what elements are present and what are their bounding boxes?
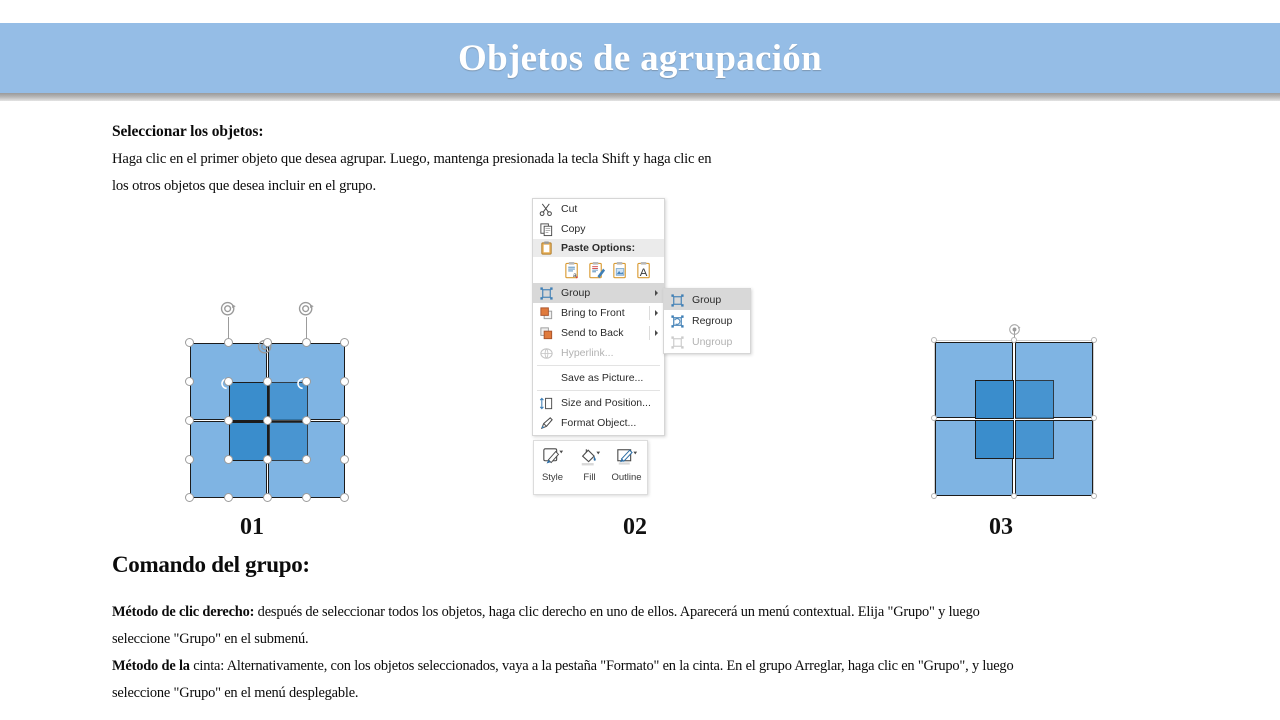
resize-handle[interactable]: [185, 377, 194, 386]
rotate-handle-icon[interactable]: [1007, 322, 1022, 337]
figure-caption-03: 03: [989, 514, 1013, 541]
menu-divider: [537, 365, 660, 366]
resize-handle[interactable]: [185, 416, 194, 425]
submenu-item-ungroup: Ungroup: [664, 331, 750, 352]
menu-item-size-and-position[interactable]: Size and Position...: [533, 393, 664, 413]
svg-text:A: A: [640, 267, 648, 279]
group-icon: [539, 286, 554, 301]
mini-toolbar-fill-button[interactable]: Fill: [571, 441, 608, 494]
paste-options-icons[interactable]: a A: [533, 257, 664, 283]
resize-handle[interactable]: [1091, 493, 1097, 499]
mini-toolbar[interactable]: Style Fill Outline: [533, 440, 648, 495]
resize-handle[interactable]: [1091, 415, 1097, 421]
command-section-heading: Comando del grupo:: [112, 552, 310, 578]
rotate-handle-icon[interactable]: [298, 301, 315, 318]
menu-item-label: Format Object...: [561, 417, 636, 429]
shape-square-inner: [269, 422, 308, 461]
resize-handle[interactable]: [185, 493, 194, 502]
right-click-method-line2: seleccione "Grupo" en el submenú.: [112, 631, 308, 648]
paste-keep-text-only-icon[interactable]: A: [635, 261, 654, 280]
page-title: Objetos de agrupación: [0, 23, 1280, 93]
submenu-item-label: Regroup: [692, 315, 732, 327]
resize-handle[interactable]: [263, 338, 272, 347]
right-click-method-label: Método de clic derecho:: [112, 604, 254, 620]
resize-handle[interactable]: [302, 338, 311, 347]
group-submenu[interactable]: Group Regroup Ungroup: [663, 288, 751, 354]
resize-handle[interactable]: [263, 455, 272, 464]
resize-handle[interactable]: [931, 337, 937, 343]
menu-item-label: Send to Back: [561, 327, 623, 339]
clipboard-icon: [539, 240, 554, 256]
menu-item-label: Copy: [561, 223, 586, 235]
resize-handle[interactable]: [1011, 337, 1017, 343]
figure-grouped-shapes: [928, 322, 1100, 502]
bring-to-front-icon: [539, 306, 554, 321]
menu-item-bring-to-front[interactable]: Bring to Front: [533, 303, 664, 323]
menu-item-send-to-back[interactable]: Send to Back: [533, 323, 664, 343]
shape-square-inner: [229, 422, 268, 461]
submenu-item-regroup[interactable]: Regroup: [664, 310, 750, 331]
fill-bucket-icon: [578, 447, 602, 469]
resize-handle[interactable]: [224, 493, 233, 502]
chevron-right-icon: [655, 290, 658, 296]
format-object-icon: [539, 416, 554, 431]
lead-paragraph-line1: Haga clic en el primer objeto que desea …: [112, 151, 912, 168]
scissors-icon: [539, 202, 554, 217]
send-to-back-icon: [539, 326, 554, 341]
resize-handle[interactable]: [263, 377, 272, 386]
shape-square-inner: [975, 380, 1014, 419]
context-menu[interactable]: Cut Copy Paste Options: a: [532, 198, 665, 436]
figure-caption-01: 01: [240, 514, 264, 541]
resize-handle[interactable]: [931, 415, 937, 421]
paste-keep-source-formatting-icon[interactable]: a: [563, 261, 582, 280]
resize-handle[interactable]: [302, 455, 311, 464]
resize-handle[interactable]: [185, 455, 194, 464]
menu-item-group[interactable]: Group: [533, 283, 664, 303]
resize-handle[interactable]: [340, 455, 349, 464]
header-banner-shadow: [0, 93, 1280, 101]
resize-handle[interactable]: [263, 493, 272, 502]
shape-square-inner: [975, 420, 1014, 459]
ribbon-method-text: cinta: Alternativamente, con los objetos…: [190, 658, 1014, 674]
mini-toolbar-outline-button[interactable]: Outline: [608, 441, 645, 494]
shape-square-inner: [1015, 380, 1054, 419]
resize-handle[interactable]: [224, 338, 233, 347]
right-click-method-text: después de seleccionar todos los objetos…: [254, 604, 979, 620]
menu-item-label: Bring to Front: [561, 307, 625, 319]
resize-handle[interactable]: [224, 455, 233, 464]
resize-handle[interactable]: [302, 416, 311, 425]
rotate-handle-icon[interactable]: [220, 301, 237, 318]
chevron-right-icon: [655, 330, 658, 336]
resize-handle[interactable]: [1011, 493, 1017, 499]
copy-icon: [539, 222, 554, 237]
menu-item-label: Cut: [561, 203, 577, 215]
ungroup-icon: [670, 335, 685, 350]
mini-toolbar-style-button[interactable]: Style: [534, 441, 571, 494]
menu-item-label: Size and Position...: [561, 397, 651, 409]
resize-handle[interactable]: [263, 416, 272, 425]
resize-handle[interactable]: [224, 377, 233, 386]
menu-divider: [649, 326, 650, 340]
figure-selected-shapes: [185, 300, 350, 500]
resize-handle[interactable]: [340, 338, 349, 347]
resize-handle[interactable]: [931, 493, 937, 499]
mini-toolbar-label: Fill: [583, 472, 595, 483]
paste-options-label: Paste Options:: [561, 242, 635, 254]
submenu-item-label: Group: [692, 294, 721, 306]
resize-handle[interactable]: [1091, 337, 1097, 343]
menu-divider: [649, 306, 650, 320]
right-click-method-line1: Método de clic derecho: después de selec…: [112, 604, 980, 621]
chevron-right-icon: [655, 310, 658, 316]
paste-picture-icon[interactable]: [611, 261, 630, 280]
figure-caption-02: 02: [623, 514, 647, 541]
hyperlink-icon: [539, 346, 554, 361]
resize-handle[interactable]: [302, 377, 311, 386]
paste-destination-theme-icon[interactable]: [587, 261, 606, 280]
menu-item-cut[interactable]: Cut: [533, 199, 664, 219]
ribbon-method-label: Método de la: [112, 658, 190, 674]
menu-item-copy[interactable]: Copy: [533, 219, 664, 239]
ribbon-method-line2: seleccione "Grupo" en el menú desplegabl…: [112, 685, 358, 702]
menu-item-label: Hyperlink...: [561, 347, 614, 359]
resize-handle[interactable]: [224, 416, 233, 425]
resize-handle[interactable]: [340, 377, 349, 386]
resize-handle[interactable]: [340, 416, 349, 425]
regroup-icon: [670, 314, 685, 329]
resize-handle[interactable]: [302, 493, 311, 502]
resize-handle[interactable]: [340, 493, 349, 502]
mini-toolbar-label: Style: [542, 472, 563, 483]
menu-item-save-as-picture[interactable]: Save as Picture...: [533, 368, 664, 388]
shape-square-inner: [1015, 420, 1054, 459]
lead-paragraph-line2: los otros objetos que desea incluir en e…: [112, 178, 912, 195]
mini-toolbar-label: Outline: [611, 472, 641, 483]
resize-handle[interactable]: [185, 338, 194, 347]
menu-divider: [537, 390, 660, 391]
lead-heading: Seleccionar los objetos:: [112, 123, 263, 141]
shape-style-icon: [541, 447, 565, 469]
paste-options-header: Paste Options:: [533, 239, 664, 257]
ribbon-method-line1: Método de la cinta: Alternativamente, co…: [112, 658, 1013, 675]
menu-item-format-object[interactable]: Format Object...: [533, 413, 664, 433]
size-position-icon: [539, 396, 554, 411]
submenu-item-group[interactable]: Group: [664, 289, 750, 310]
menu-item-label: Group: [561, 287, 590, 299]
menu-item-hyperlink: Hyperlink...: [533, 343, 664, 363]
group-icon: [670, 293, 685, 308]
shape-outline-icon: [615, 447, 639, 469]
submenu-item-label: Ungroup: [692, 336, 732, 348]
menu-item-label: Save as Picture...: [561, 372, 643, 384]
